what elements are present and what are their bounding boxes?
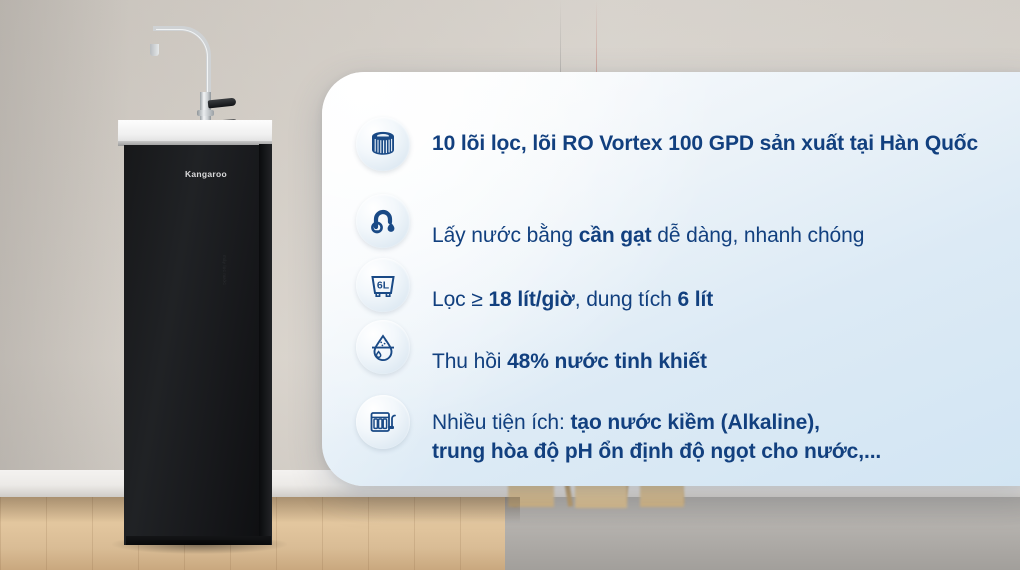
- faucet-highlight: [156, 29, 208, 97]
- feature-text: Lấy nước bằng cần gạt dễ dàng, nhanh chó…: [432, 192, 864, 250]
- feature-text: Lọc ≥ 18 lít/giờ, dung tích 6 lít: [432, 256, 713, 314]
- feature-text-part: Nhiều tiện ích:: [432, 411, 570, 434]
- cabinet-side-panel: [259, 144, 272, 545]
- feature-text: Nhiều tiện ích: tạo nước kiềm (Alkaline)…: [432, 379, 881, 466]
- feature-text-strong: tạo nước kiềm (Alkaline),: [570, 411, 819, 434]
- feature-text-strong: trung hòa độ pH ổn định độ ngọt cho nước…: [432, 440, 881, 463]
- faucet-spout-tip: [150, 44, 159, 56]
- feature-row: Nhiều tiện ích: tạo nước kiềm (Alkaline)…: [356, 377, 1016, 468]
- wall-shadow: [0, 0, 130, 497]
- feature-text-strong: 6 lít: [677, 288, 713, 311]
- feature-text: 10 lõi lọc, lõi RO Vortex 100 GPD sản xu…: [432, 129, 978, 158]
- faucet-lever-icon: [356, 194, 410, 248]
- feature-text-part: Lấy nước bằng: [432, 224, 579, 247]
- feature-row: Thu hồi 48% nước tinh khiết: [356, 316, 1016, 377]
- feature-text-part: dễ dàng, nhanh chóng: [652, 224, 865, 247]
- purifier-cabinet: [124, 145, 272, 545]
- feature-text-strong: 18 lít/giờ: [488, 288, 574, 311]
- feature-text-strong: 48% nước tinh khiết: [507, 350, 707, 373]
- filter-cartridge-icon: [356, 117, 410, 171]
- filter-system-icon: [356, 395, 410, 449]
- faucet-collar: [197, 110, 214, 116]
- feature-card: 10 lõi lọc, lõi RO Vortex 100 GPD sản xu…: [322, 72, 1020, 486]
- product-feature-banner: Kangaroo máy lọc nước: [0, 0, 1020, 570]
- feature-text-part: Lọc ≥: [432, 288, 488, 311]
- svg-text:6L: 6L: [377, 279, 390, 291]
- tank-6l-icon: 6L: [356, 258, 410, 312]
- feature-text-strong: cần gạt: [579, 224, 652, 247]
- feature-row: 10 lõi lọc, lõi RO Vortex 100 GPD sản xu…: [356, 98, 1016, 189]
- cabinet-fineprint: máy lọc nước: [182, 255, 228, 317]
- feature-list: 10 lõi lọc, lõi RO Vortex 100 GPD sản xu…: [356, 98, 1016, 468]
- feature-row: 6L Lọc ≥ 18 lít/giờ, dung tích 6 lít: [356, 254, 1016, 317]
- feature-text: Thu hồi 48% nước tinh khiết: [432, 318, 707, 376]
- feature-text-part: Thu hồi: [432, 350, 507, 373]
- water-drop-purity-icon: [356, 320, 410, 374]
- feature-text-part: , dung tích: [575, 288, 678, 311]
- brand-logo: Kangaroo: [176, 168, 236, 180]
- product-shadow: [112, 540, 287, 554]
- feature-row: Lấy nước bằng cần gạt dễ dàng, nhanh chó…: [356, 189, 1016, 254]
